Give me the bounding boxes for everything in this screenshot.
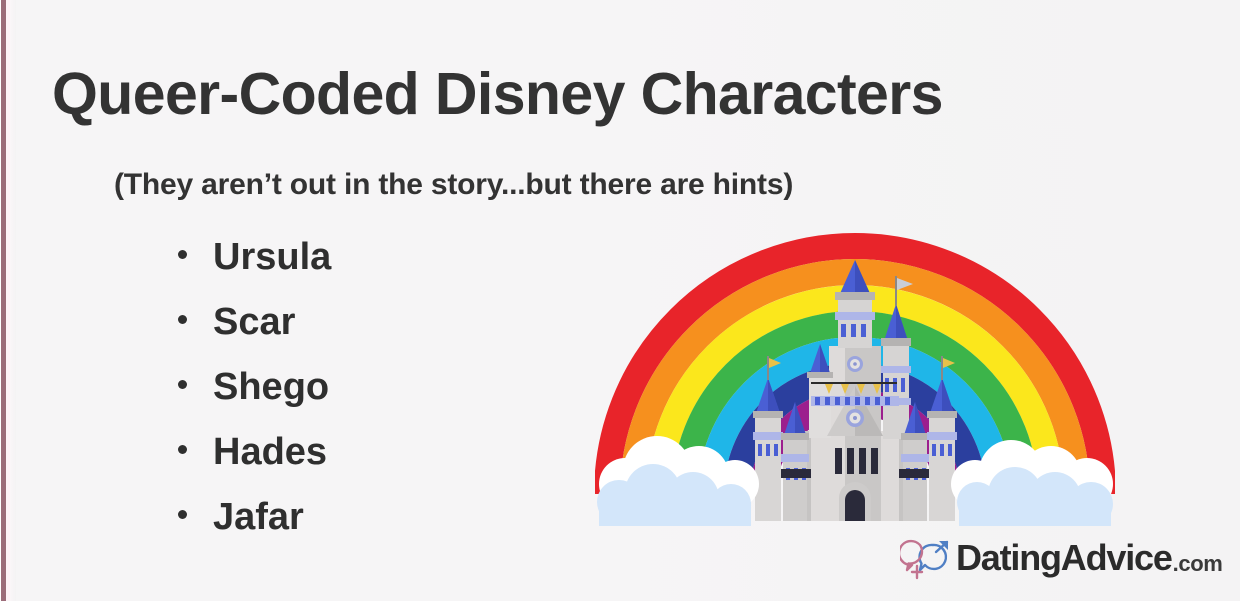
border-stripe-pink — [6, 0, 10, 601]
slide-canvas: Queer-Coded Disney Characters (They aren… — [0, 0, 1240, 601]
list-item: Hades — [178, 431, 331, 496]
left-accent-border — [0, 0, 16, 601]
list-item-label: Jafar — [213, 496, 304, 539]
border-stripe-white — [0, 0, 1, 601]
list-item: Scar — [178, 301, 331, 366]
logo-wordmark: DatingAdvice — [956, 540, 1172, 576]
page-title: Queer-Coded Disney Characters — [52, 60, 943, 130]
list-item: Shego — [178, 366, 331, 431]
list-item: Ursula — [178, 236, 331, 301]
border-stripe-mauve — [1, 0, 6, 601]
logo-tld: .com — [1173, 553, 1223, 575]
list-item-label: Hades — [213, 431, 327, 474]
bullet-dot-icon — [178, 510, 187, 519]
datingadvice-gender-symbols-icon — [900, 536, 954, 580]
page-subtitle: (They aren’t out in the story...but ther… — [114, 168, 793, 202]
bullet-dot-icon — [178, 445, 187, 454]
list-item: Jafar — [178, 496, 331, 561]
list-item-label: Ursula — [213, 236, 331, 279]
datingadvice-logo[interactable]: DatingAdvice .com — [900, 533, 1222, 583]
rainbow-castle-illustration — [595, 226, 1115, 526]
bullet-dot-icon — [178, 250, 187, 259]
border-stripe-fade — [10, 0, 16, 601]
character-list: Ursula Scar Shego Hades Jafar — [178, 236, 331, 561]
bullet-dot-icon — [178, 315, 187, 324]
list-item-label: Shego — [213, 366, 329, 409]
bullet-dot-icon — [178, 380, 187, 389]
list-item-label: Scar — [213, 301, 295, 344]
